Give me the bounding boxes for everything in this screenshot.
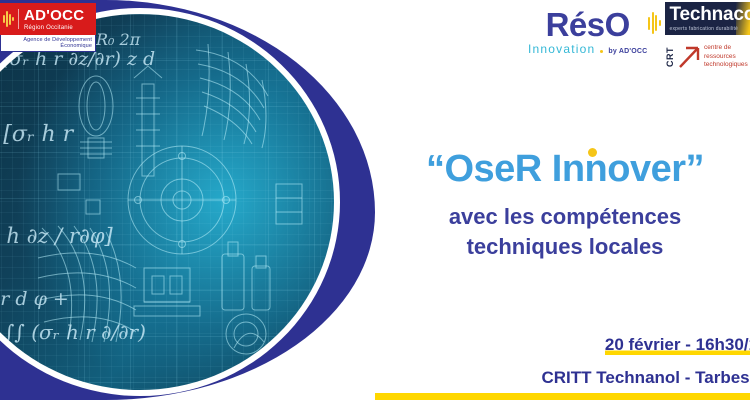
crt-subtitle-line-3: technologiques xyxy=(704,61,748,70)
technanol-logo-row: Technaco experts fabrication durabilité xyxy=(648,2,750,40)
sound-bars-icon xyxy=(3,9,14,29)
adocc-logo: AD'OCC Région Occitanie Agence de Dévelo… xyxy=(0,3,96,52)
yellow-dot-icon xyxy=(600,50,603,53)
page-title: “OseR Innover” xyxy=(426,150,704,190)
headline-block: “OseR Innover” avec les compétences tech… xyxy=(380,150,750,261)
event-banner: (σᵣ h r ∂z/∂r) z d ∫₀ [σᵣ h r R₀ 2π [σₜ … xyxy=(0,0,750,400)
blueprint-circle-image: (σᵣ h r ∂z/∂r) z d ∫₀ [σᵣ h r R₀ 2π [σₜ … xyxy=(0,14,334,390)
reso-tagline-row: Innovation by AD'OCC xyxy=(528,42,647,56)
sound-bars-icon xyxy=(648,2,661,40)
blueprint-formulas: (σᵣ h r ∂z/∂r) z d ∫₀ [σᵣ h r R₀ 2π [σₜ … xyxy=(0,14,334,390)
page-subtitle: avec les compétences techniques locales xyxy=(380,202,750,261)
adocc-name: AD'OCC xyxy=(24,8,84,23)
technanol-name: Technaco xyxy=(670,5,750,24)
yellow-dot-icon xyxy=(588,148,597,157)
logo-divider xyxy=(18,9,19,29)
page-title-text: “OseR Innover” xyxy=(426,148,704,190)
adocc-logo-main: AD'OCC Région Occitanie xyxy=(0,3,96,35)
formula-5: ∫∫ (σᵣ h r ∂/∂r) xyxy=(4,320,146,344)
reso-tagline: Innovation xyxy=(528,42,595,56)
event-date-text: 20 février - 16h30/1 xyxy=(605,335,750,355)
reso-wordmark: RésO xyxy=(528,8,647,41)
adocc-footer-text: Agence de Développement Économique xyxy=(0,35,96,52)
formula-2: ∫₀ [σᵣ h r xyxy=(0,122,73,147)
crt-label: CRT xyxy=(666,47,675,67)
reso-by-label: by AD'OCC xyxy=(608,48,647,55)
formula-4: z d r d φ + xyxy=(0,288,69,310)
page-subtitle-line-1: avec les compétences xyxy=(380,202,750,232)
adocc-subtitle: Région Occitanie xyxy=(24,25,84,31)
adocc-logo-text: AD'OCC Région Occitanie xyxy=(24,8,84,31)
event-place: CRITT Technanol - Tarbes ( xyxy=(542,368,750,388)
bottom-accent-bar xyxy=(375,393,750,400)
arrow-up-right-icon xyxy=(677,45,701,69)
crt-subtitle-line-2: ressources xyxy=(704,53,748,62)
crt-subtitle: centre de ressources technologiques xyxy=(704,44,748,70)
technanol-tagline: experts fabrication durabilité xyxy=(670,26,750,32)
reso-innovation-logo: RésO Innovation by AD'OCC xyxy=(528,8,647,56)
formula-3: [σₜ h ∂z / r∂φ] xyxy=(0,224,113,248)
event-date: 20 février - 16h30/1 xyxy=(605,335,750,355)
technanol-crt-logo: Technaco experts fabrication durabilité … xyxy=(648,2,750,70)
page-subtitle-line-2: techniques locales xyxy=(380,232,750,262)
crt-subtitle-line-1: centre de xyxy=(704,44,748,53)
crt-row: CRT centre de ressources technologiques xyxy=(666,44,750,70)
technanol-nameplate: Technaco experts fabrication durabilité xyxy=(665,2,750,35)
formula-6: R₀ 2π xyxy=(96,30,140,49)
blueprint-circle-frame: (σᵣ h r ∂z/∂r) z d ∫₀ [σᵣ h r R₀ 2π [σₜ … xyxy=(0,8,340,396)
